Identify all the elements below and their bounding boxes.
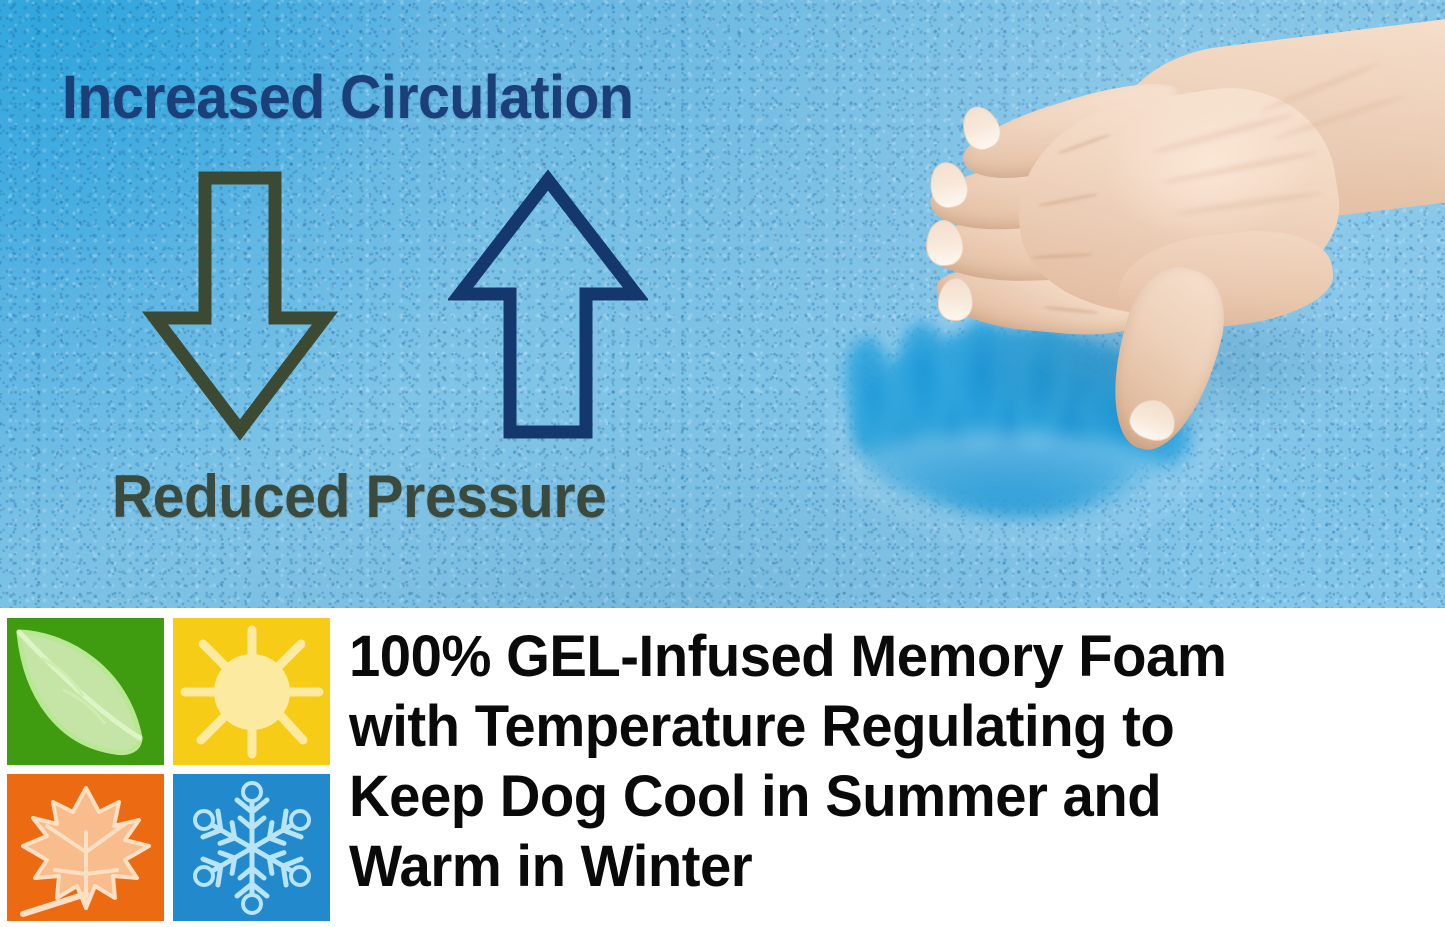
season-tile-summer — [173, 618, 330, 765]
reduced-pressure-label: Reduced Pressure — [112, 462, 606, 531]
copy-line-2: with Temperature Regulating to — [349, 692, 1406, 762]
marketing-band: 100% GEL-Infused Memory Foam with Temper… — [0, 608, 1445, 927]
copy-line-4: Warm in Winter — [349, 832, 1406, 902]
leaf-icon — [7, 618, 164, 765]
arrow-down-outline-icon — [140, 168, 340, 443]
marketing-copy-block: 100% GEL-Infused Memory Foam with Temper… — [349, 622, 1439, 902]
copy-line-3: Keep Dog Cool in Summer and — [349, 762, 1406, 832]
season-tile-winter — [173, 774, 330, 921]
product-feature-graphic: Increased Circulation Reduced Pressure — [0, 0, 1445, 927]
memory-foam-photo: Increased Circulation Reduced Pressure — [0, 0, 1445, 608]
snowflake-icon — [173, 774, 330, 921]
increased-circulation-label: Increased Circulation — [62, 62, 633, 132]
sun-icon — [173, 618, 330, 765]
copy-line-1: 100% GEL-Infused Memory Foam — [349, 622, 1406, 692]
arrow-up-outline-icon — [448, 168, 648, 443]
season-tile-autumn — [7, 774, 164, 921]
season-tile-spring — [7, 618, 164, 765]
four-seasons-icon-grid — [7, 618, 337, 918]
maple-leaf-icon — [7, 774, 164, 921]
